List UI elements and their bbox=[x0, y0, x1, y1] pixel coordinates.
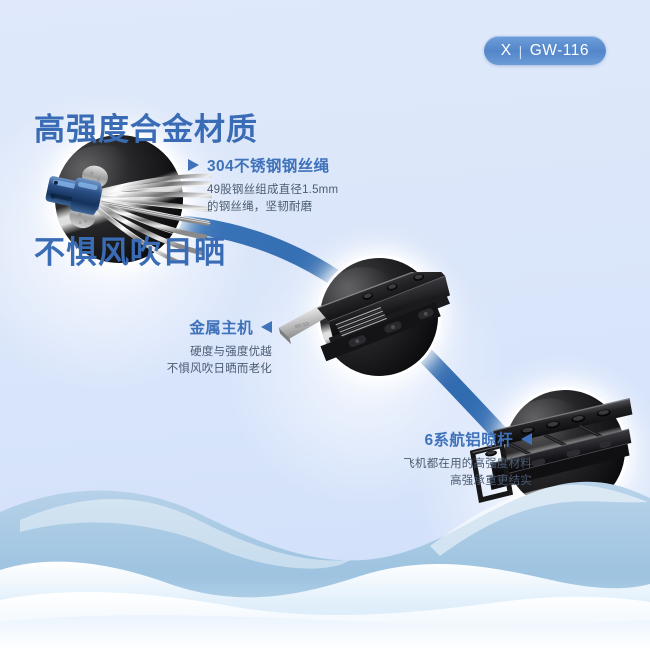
svg-text:▯▯▯ ▯▯▯: ▯▯▯ ▯▯▯ bbox=[294, 320, 309, 328]
product-feature-poster: ▯▯▯ ▯▯▯ bbox=[0, 0, 650, 650]
callout-body-line-2: 不惧风吹日晒而老化 bbox=[10, 361, 272, 378]
badge-separator: | bbox=[519, 43, 523, 59]
headline-line-2: 不惧风吹日晒 bbox=[34, 232, 258, 273]
callout-title-row: 6系航铝晾杆 bbox=[180, 428, 532, 450]
callout-title: 6系航铝晾杆 bbox=[424, 428, 513, 450]
callout-title: 304不锈钢钢丝绳 bbox=[207, 154, 329, 176]
callout-steel-wire-rope: 304不锈钢钢丝绳 49股钢丝组成直径1.5mm 的钢丝绳，坚韧耐磨 bbox=[188, 154, 338, 216]
medallion-light-band bbox=[313, 290, 447, 351]
triangle-left-icon bbox=[521, 433, 532, 445]
brand-mark: X bbox=[501, 42, 512, 60]
callout-metal-host: 金属主机 硬度与强度优越 不惧风吹日晒而老化 bbox=[10, 316, 272, 378]
callout-body: 49股钢丝组成直径1.5mm 的钢丝绳，坚韧耐磨 bbox=[188, 182, 338, 216]
background-wave-decoration bbox=[0, 450, 650, 650]
model-badge: X | GW-116 bbox=[484, 36, 606, 65]
triangle-left-icon bbox=[261, 321, 272, 333]
callout-title-row: 304不锈钢钢丝绳 bbox=[188, 154, 338, 176]
callout-body: 硬度与强度优越 不惧风吹日晒而老化 bbox=[10, 344, 272, 378]
callout-title: 金属主机 bbox=[189, 316, 253, 338]
callout-body-line-1: 49股钢丝组成直径1.5mm bbox=[207, 182, 338, 199]
headline-line-1: 高强度合金材质 bbox=[34, 109, 258, 150]
triangle-right-icon bbox=[188, 159, 199, 171]
callout-title-row: 金属主机 bbox=[10, 316, 272, 338]
model-number: GW-116 bbox=[530, 42, 589, 60]
callout-body-line-2: 的钢丝绳，坚韧耐磨 bbox=[207, 199, 338, 216]
callout-body-line-1: 硬度与强度优越 bbox=[10, 344, 272, 361]
feature-medallion-metal-host bbox=[306, 244, 452, 390]
medallion-clip bbox=[306, 244, 452, 390]
